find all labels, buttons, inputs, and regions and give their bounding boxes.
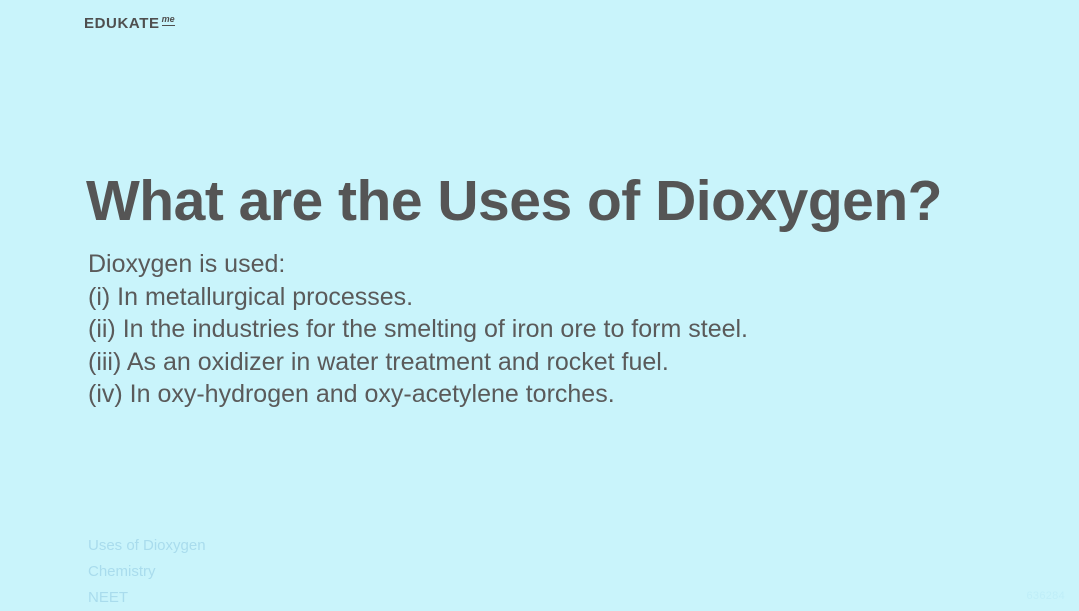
body-item-2: (ii) In the industries for the smelting … [88, 313, 748, 346]
page-title: What are the Uses of Dioxygen? [86, 170, 942, 233]
body-item-3: (iii) As an oxidizer in water treatment … [88, 346, 748, 379]
footer-meta: Uses of Dioxygen Chemistry NEET [88, 533, 206, 611]
body-item-4: (iv) In oxy-hydrogen and oxy-acetylene t… [88, 378, 748, 411]
footer-exam: NEET [88, 585, 206, 611]
watermark-id: 636284 [1026, 590, 1065, 602]
footer-subject: Chemistry [88, 559, 206, 585]
body-intro: Dioxygen is used: [88, 248, 748, 281]
body-item-1: (i) In metallurgical processes. [88, 281, 748, 314]
footer-topic: Uses of Dioxygen [88, 533, 206, 559]
brand-superscript: me [162, 15, 175, 26]
body-content: Dioxygen is used: (i) In metallurgical p… [88, 248, 748, 411]
slide-canvas: EDUKATE me What are the Uses of Dioxygen… [0, 0, 1079, 607]
brand-logo: EDUKATE me [84, 16, 175, 31]
brand-name: EDUKATE [84, 16, 160, 31]
